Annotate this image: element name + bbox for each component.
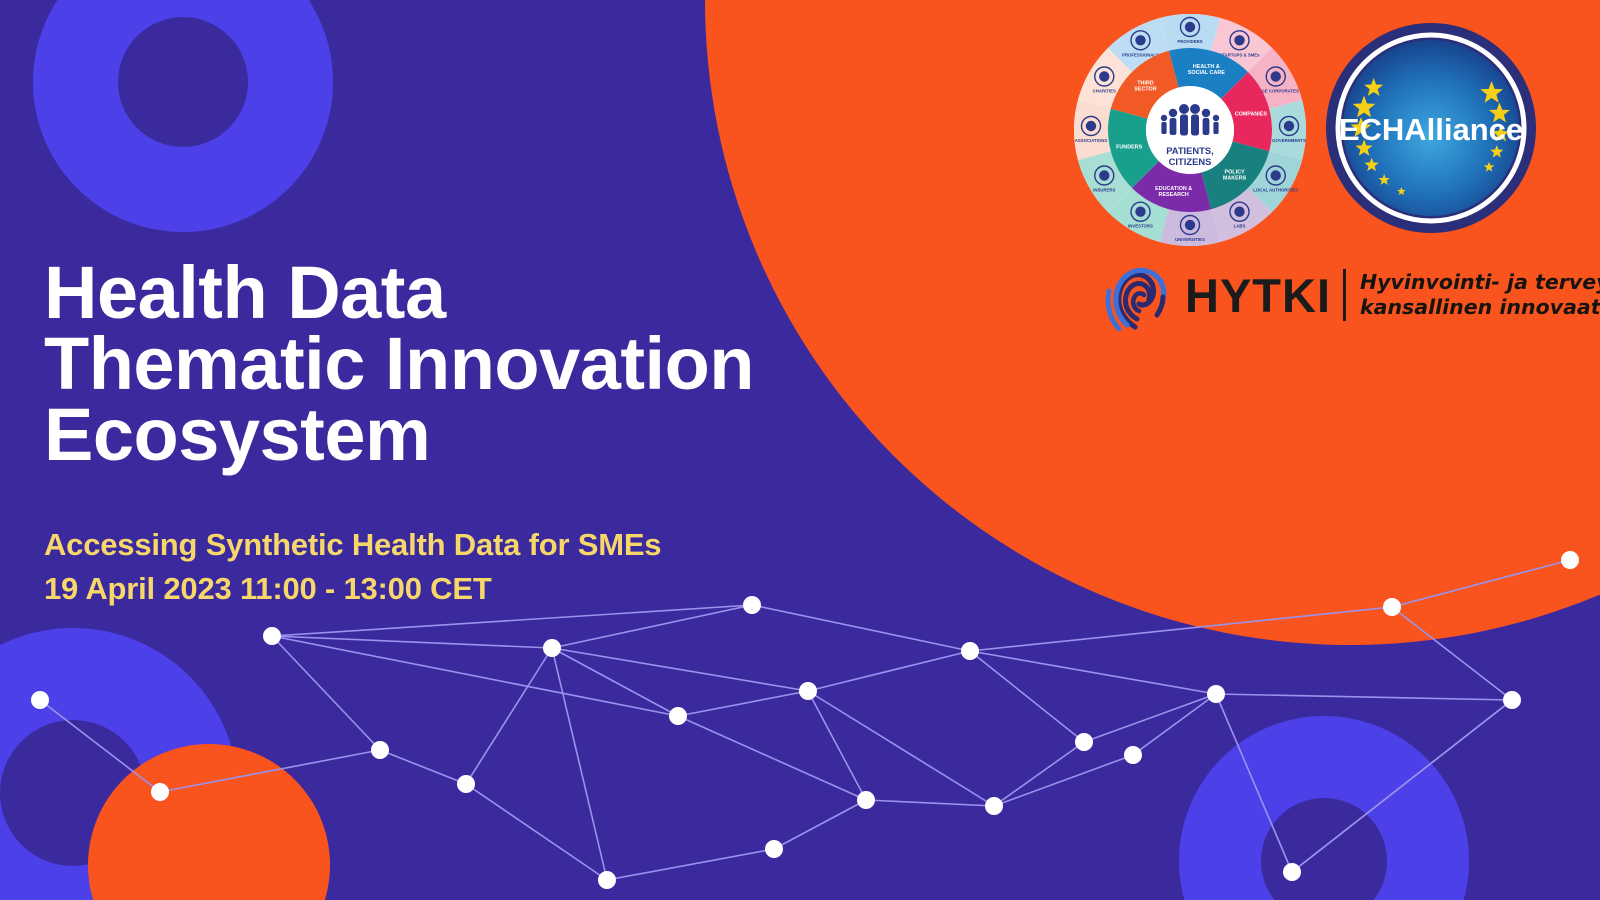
- wheel-segment-label: COMPANIES: [1235, 112, 1268, 118]
- network-node: [799, 682, 817, 700]
- network-edge: [994, 755, 1133, 806]
- wheel-segment-label: HEALTH &: [1193, 64, 1220, 70]
- wheel-segment-label: MAKERS: [1223, 176, 1247, 182]
- network-edge: [40, 700, 160, 792]
- network-edge: [552, 648, 607, 880]
- wheel-center-line-2: CITIZENS: [1169, 156, 1212, 167]
- wheel-outer-label: INVESTORS: [1128, 224, 1153, 229]
- network-edge: [1133, 694, 1216, 755]
- poster-canvas: Health Data Thematic Innovation Ecosyste…: [0, 0, 1600, 900]
- wheel-outer-label: INSURERS: [1093, 188, 1115, 193]
- network-edge: [678, 716, 866, 800]
- hytki-tagline: Hyvinvointi- ja terveysdatan kansallinen…: [1360, 270, 1600, 320]
- wheel-outer-label: PROVIDERS: [1177, 39, 1202, 44]
- network-edge: [1084, 694, 1216, 742]
- hytki-tagline-line-2: kansallinen innovaatioekosysteemi: [1360, 295, 1600, 320]
- network-node: [1383, 598, 1401, 616]
- wheel-segment-label: EDUCATION &: [1155, 186, 1192, 192]
- network-edge: [380, 750, 466, 784]
- network-edge: [994, 742, 1084, 806]
- network-edge: [466, 648, 552, 784]
- network-edge: [1216, 694, 1512, 700]
- network-edge: [466, 784, 607, 880]
- wheel-outer-label: LABS: [1234, 224, 1246, 229]
- network-edge: [607, 849, 774, 880]
- network-edge: [808, 651, 970, 691]
- network-edge: [866, 800, 994, 806]
- network-edge: [272, 636, 552, 648]
- network-edge: [752, 605, 970, 651]
- ecosystem-wheel-logo: PROVIDERSSTARTUPS & SMEsLARGE CORPORATES…: [1074, 14, 1306, 246]
- wheel-segment-label: SOCIAL CARE: [1188, 70, 1225, 76]
- network-edge: [970, 651, 1216, 694]
- subtitle-datetime: 19 April 2023 11:00 - 13:00 CET: [44, 567, 661, 611]
- network-node: [263, 627, 281, 645]
- wheel-segment-label: FUNDERS: [1116, 144, 1142, 150]
- wheel-outer-label: CHARITIES: [1093, 89, 1116, 94]
- wheel-outer-label: GOVERNMENTS: [1272, 138, 1306, 143]
- subtitle-block: Accessing Synthetic Health Data for SMEs…: [44, 523, 661, 611]
- network-edge: [970, 651, 1084, 742]
- title-line-3: Ecosystem: [44, 399, 1004, 470]
- wheel-segment-label: RESEARCH: [1159, 192, 1189, 198]
- network-edge: [970, 607, 1392, 651]
- wheel-outer-label: PROFESSIONALS: [1122, 52, 1159, 57]
- subtitle-topic: Accessing Synthetic Health Data for SMEs: [44, 523, 661, 567]
- network-node: [743, 596, 761, 614]
- fingerprint-icon: [1093, 253, 1177, 337]
- network-node: [457, 775, 475, 793]
- network-node: [985, 797, 1003, 815]
- network-edge: [1292, 700, 1512, 872]
- wheel-outer-label: ASSOCIATIONS: [1075, 138, 1108, 143]
- wheel-segment-label: THIRD: [1137, 80, 1154, 86]
- network-node: [1124, 746, 1142, 764]
- network-edge: [808, 691, 866, 800]
- network-node: [961, 642, 979, 660]
- network-edge: [678, 691, 808, 716]
- wheel-outer-segment: [1160, 14, 1220, 51]
- network-node: [1561, 551, 1579, 569]
- network-edge: [1392, 560, 1570, 607]
- network-node: [1283, 863, 1301, 881]
- decor-ring-top-left: [33, 0, 333, 232]
- network-node: [371, 741, 389, 759]
- network-node: [31, 691, 49, 709]
- network-node: [151, 783, 169, 801]
- hytki-logo: HYTKI Hyvinvointi- ja terveysdatan kansa…: [1093, 253, 1593, 337]
- hytki-tagline-line-1: Hyvinvointi- ja terveysdatan: [1360, 270, 1600, 295]
- network-edge: [272, 636, 380, 750]
- echalliance-wordmark: ECHAlliance: [1339, 112, 1523, 147]
- title-line-1: Health Data: [44, 257, 1004, 328]
- network-edge: [272, 636, 678, 716]
- page-title: Health Data Thematic Innovation Ecosyste…: [44, 257, 1004, 470]
- network-edge: [1216, 694, 1292, 872]
- wheel-segment-label: POLICY: [1225, 169, 1245, 175]
- hytki-wordmark: HYTKI: [1185, 272, 1331, 319]
- wheel-outer-label: UNIVERSITIES: [1175, 237, 1205, 242]
- network-node: [1075, 733, 1093, 751]
- wheel-center-line-1: PATIENTS,: [1166, 145, 1214, 156]
- network-node: [669, 707, 687, 725]
- network-node: [598, 871, 616, 889]
- network-node: [765, 840, 783, 858]
- network-edge: [160, 750, 380, 792]
- hytki-divider: [1343, 269, 1346, 321]
- network-node: [1207, 685, 1225, 703]
- title-line-2: Thematic Innovation: [44, 328, 1004, 399]
- network-node: [857, 791, 875, 809]
- network-node: [1503, 691, 1521, 709]
- network-edge: [808, 691, 994, 806]
- wheel-segment-label: SECTOR: [1134, 87, 1156, 93]
- network-edge: [774, 800, 866, 849]
- echalliance-logo: ECHAlliance: [1325, 22, 1537, 234]
- network-node: [543, 639, 561, 657]
- wheel-outer-label: LOCAL AUTHORITIES: [1253, 188, 1298, 193]
- network-edge: [1392, 607, 1512, 700]
